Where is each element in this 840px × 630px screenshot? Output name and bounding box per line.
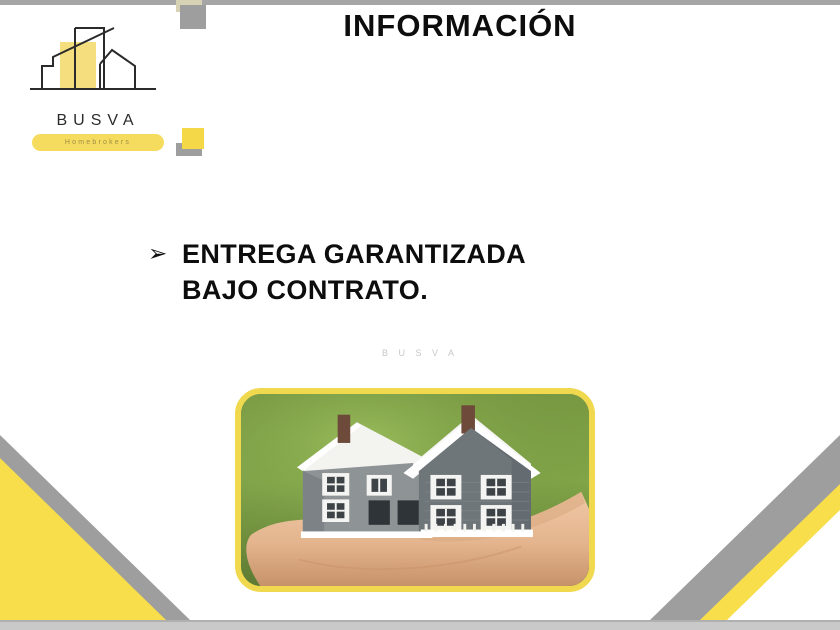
busva-building-logo-icon [22, 22, 174, 114]
body-content: ➢ ENTREGA GARANTIZADA BAJO CONTRATO. [148, 236, 668, 308]
slide-canvas: BUSVA Homebrokers INFORMACIÓN ➢ ENTREGA … [0, 0, 840, 630]
house-in-hand-photo [235, 388, 595, 592]
bullet-line-1: ENTREGA GARANTIZADA [182, 236, 668, 272]
bottom-edge-strip [0, 622, 840, 630]
decor-square-yellow-mid [182, 128, 204, 149]
busva-logo: BUSVA Homebrokers [22, 22, 174, 140]
corner-triangle-white-right [727, 510, 840, 620]
page-title: INFORMACIÓN [200, 8, 720, 44]
house-in-hand-illustration [241, 394, 589, 586]
bullet-line-2: BAJO CONTRATO. [182, 272, 668, 308]
logo-wordmark: BUSVA [22, 112, 174, 130]
corner-decor-bottom-left [0, 435, 190, 620]
top-edge-strip [0, 0, 840, 5]
corner-triangle-yellow-left [0, 458, 166, 620]
bullet-text: ENTREGA GARANTIZADA BAJO CONTRATO. [182, 236, 668, 308]
bullet-arrow-icon: ➢ [148, 236, 182, 270]
bullet-item: ➢ ENTREGA GARANTIZADA BAJO CONTRATO. [148, 236, 668, 308]
corner-decor-bottom-right [650, 435, 840, 620]
logo-tagline: Homebrokers [32, 135, 164, 150]
watermark-text: B U S V A [0, 348, 840, 358]
